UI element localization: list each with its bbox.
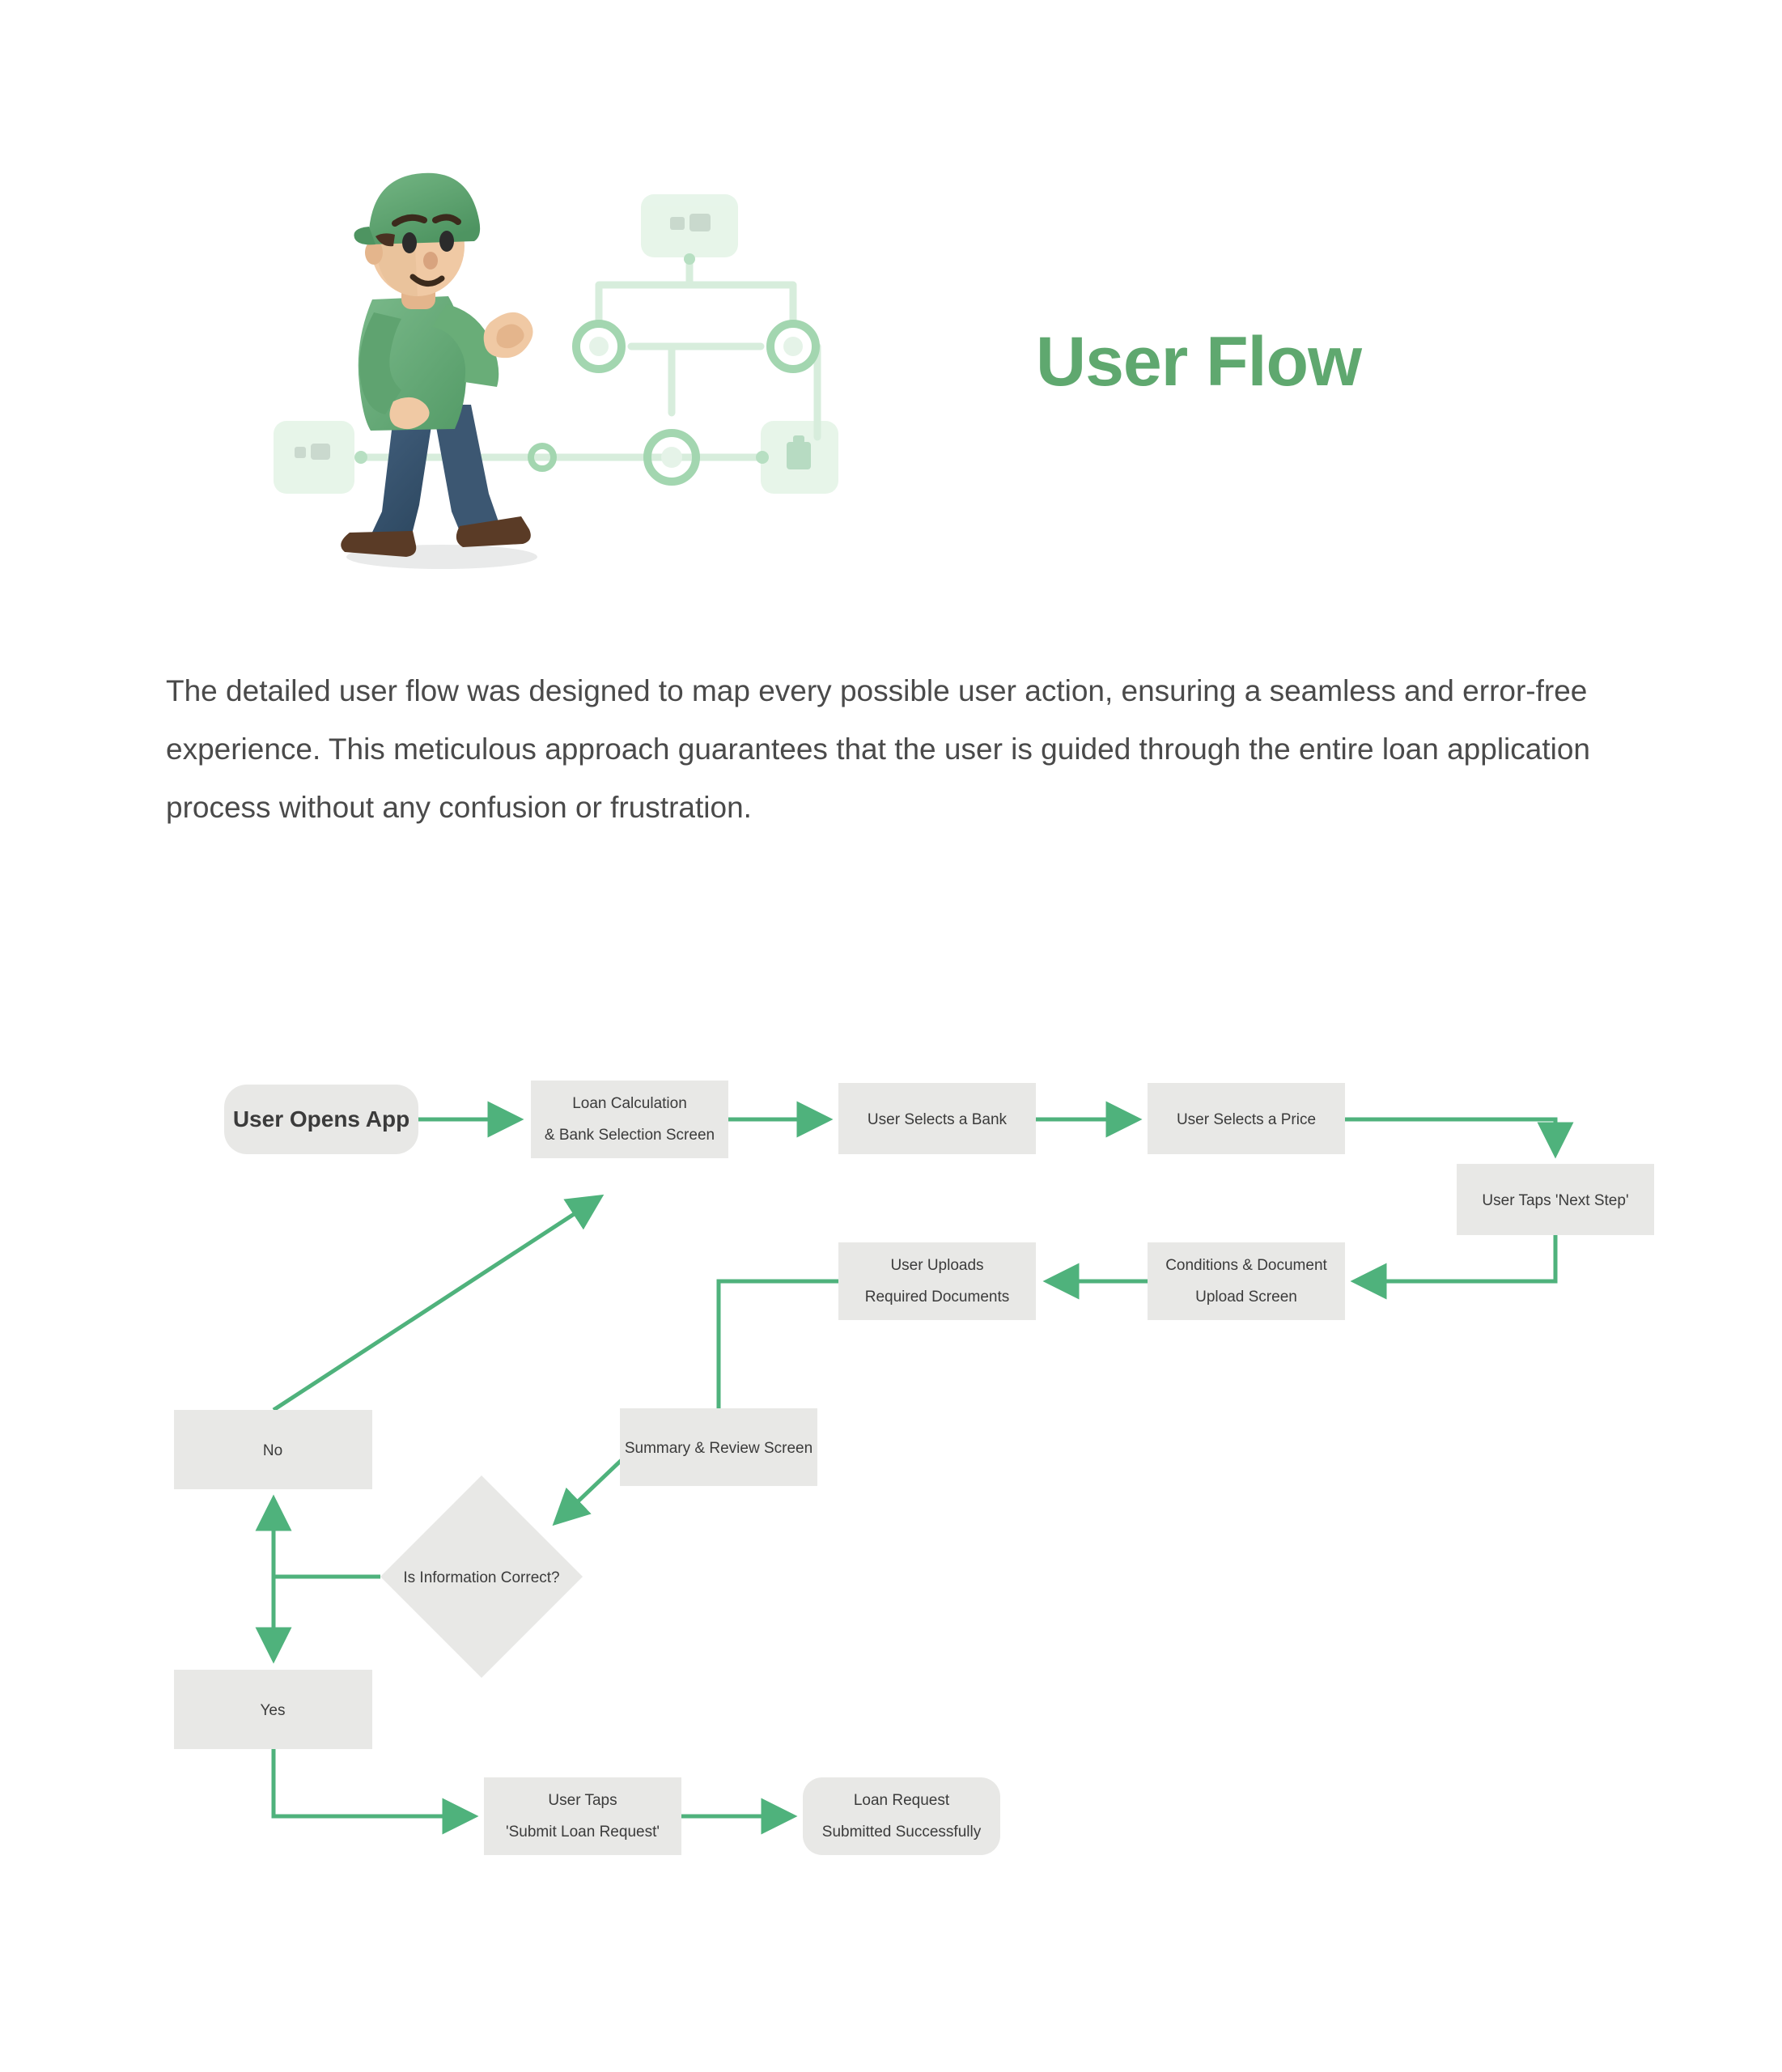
edge-decision-yes (274, 1577, 380, 1658)
flow-node-label: User Opens App (233, 1106, 409, 1132)
edge-next-to-conditions (1356, 1235, 1555, 1281)
flow-node-yes[interactable]: Yes (174, 1670, 372, 1749)
flow-node-label-line1: Loan Request (854, 1792, 950, 1809)
flow-node-label-line1: User Taps (548, 1792, 617, 1809)
flow-node-conditions-upload[interactable]: Conditions & Document Upload Screen (1148, 1242, 1345, 1320)
edge-yes-to-submit (274, 1749, 473, 1816)
flow-node-label-line2: Submitted Successfully (822, 1824, 982, 1841)
person-with-flowchart-illustration (259, 146, 842, 583)
user-flow-page: User Flow The detailed user flow was des… (0, 0, 1782, 2072)
flow-node-label-line1: Conditions & Document (1165, 1257, 1327, 1274)
flow-node-user-taps-submit[interactable]: User Taps 'Submit Loan Request' (484, 1777, 681, 1855)
flow-node-label: Summary & Review Screen (625, 1440, 813, 1457)
flow-node-no[interactable]: No (174, 1410, 372, 1489)
flow-node-user-opens-app[interactable]: User Opens App (224, 1085, 418, 1154)
flow-node-label: Is Information Correct? (403, 1569, 559, 1586)
page-title: User Flow (1036, 322, 1361, 402)
flow-edges (274, 1119, 1555, 1816)
flow-node-loan-request-submitted[interactable]: Loan Request Submitted Successfully (803, 1777, 1000, 1855)
hero-section: User Flow (0, 0, 1782, 615)
edge-decision-no (274, 1501, 380, 1577)
flow-node-label-line1: Loan Calculation (572, 1095, 687, 1112)
flow-node-label-line2: 'Submit Loan Request' (506, 1824, 660, 1841)
flow-node-label: User Taps 'Next Step' (1482, 1192, 1628, 1209)
flow-node-is-information-correct[interactable]: Is Information Correct? (380, 1475, 583, 1678)
edge-summary-to-decision (557, 1457, 625, 1522)
flow-node-label: User Selects a Price (1177, 1111, 1316, 1128)
flow-node-user-selects-price[interactable]: User Selects a Price (1148, 1083, 1345, 1154)
flow-node-user-uploads-documents[interactable]: User Uploads Required Documents (838, 1242, 1036, 1320)
flow-node-user-selects-bank[interactable]: User Selects a Bank (838, 1083, 1036, 1154)
flow-node-summary-review[interactable]: Summary & Review Screen (620, 1408, 817, 1486)
flow-node-label-line2: Required Documents (865, 1289, 1009, 1306)
flow-node-label: Yes (261, 1702, 286, 1719)
flow-node-loan-calculation[interactable]: Loan Calculation & Bank Selection Screen (531, 1081, 728, 1158)
flow-node-label-line2: & Bank Selection Screen (545, 1127, 715, 1144)
intro-paragraph: The detailed user flow was designed to m… (166, 662, 1623, 837)
edge-price-to-next (1345, 1119, 1555, 1153)
flow-node-label: No (263, 1442, 282, 1459)
user-flow-chart: User Opens App Loan Calculation & Bank S… (0, 1004, 1782, 1975)
flow-node-label-line1: User Uploads (890, 1257, 983, 1274)
flow-node-label: User Selects a Bank (868, 1111, 1008, 1128)
edge-no-to-calc (274, 1198, 599, 1410)
flow-node-label-line2: Upload Screen (1195, 1289, 1297, 1306)
flow-node-user-taps-next-step[interactable]: User Taps 'Next Step' (1457, 1164, 1654, 1235)
